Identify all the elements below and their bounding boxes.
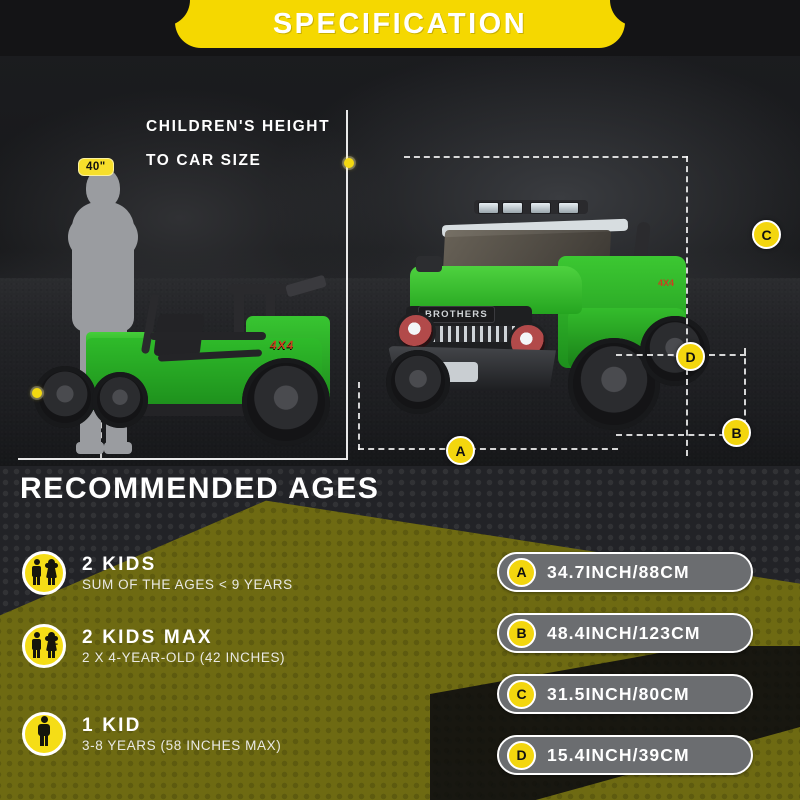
- age-row-one-kid: 1 KID 3-8 YEARS (58 INCHES MAX): [22, 712, 281, 756]
- dimension-line-a-left: [358, 382, 360, 450]
- vehicle-front-view: BROTHERS 4X4: [382, 200, 714, 460]
- two-kids-max-icon: +: [22, 624, 66, 668]
- dimension-line-a: [358, 448, 618, 450]
- age-row-title: 2 KIDS MAX: [82, 627, 285, 649]
- header-bar: SPECIFICATION: [0, 0, 800, 56]
- body-decal-4x4: 4X4: [658, 278, 674, 288]
- dimension-letter-b: B: [507, 619, 536, 648]
- dimension-value-a: 34.7INCH/88CM: [547, 562, 690, 583]
- age-row-subtitle: 2 X 4-YEAR-OLD (42 INCHES): [82, 650, 285, 665]
- section-title: RECOMMENDED AGES: [20, 472, 380, 506]
- marker-d: D: [676, 342, 705, 371]
- two-kids-icon: [22, 551, 66, 595]
- dimension-value-c: 31.5INCH/80CM: [547, 684, 690, 705]
- marker-b: B: [722, 418, 751, 447]
- measure-dot-bottom-left: [32, 388, 42, 398]
- one-kid-icon: [22, 712, 66, 756]
- page-title: SPECIFICATION: [273, 8, 527, 41]
- age-row-subtitle: 3-8 YEARS (58 INCHES MAX): [82, 738, 281, 753]
- marker-a: A: [446, 436, 475, 465]
- age-row-title: 1 KID: [82, 715, 281, 737]
- dimension-pill-d: D 15.4INCH/39CM: [497, 735, 753, 775]
- dimension-pill-b: B 48.4INCH/123CM: [497, 613, 753, 653]
- caption-line-1: CHILDREN'S HEIGHT: [146, 118, 330, 136]
- height-badge-40in: 40": [78, 158, 114, 176]
- age-row-two-kids: 2 KIDS SUM OF THE AGES < 9 YEARS: [22, 551, 293, 595]
- dimension-pill-c: C 31.5INCH/80CM: [497, 674, 753, 714]
- product-photo-area: CHILDREN'S HEIGHT TO CAR SIZE 40" 4X4: [0, 48, 800, 466]
- dimension-letter-a: A: [507, 558, 536, 587]
- vehicle-side-view: 4X4: [28, 280, 358, 465]
- dimension-letter-c: C: [507, 680, 536, 709]
- dimension-line-c: [686, 156, 688, 456]
- age-row-title: 2 KIDS: [82, 554, 293, 576]
- age-row-two-kids-max: + 2 KIDS MAX 2 X 4-YEAR-OLD (42 INCHES): [22, 624, 285, 668]
- dimension-line-c-top: [404, 156, 688, 158]
- age-row-subtitle: SUM OF THE AGES < 9 YEARS: [82, 577, 293, 592]
- caption-line-2: TO CAR SIZE: [146, 152, 262, 170]
- header-banner: SPECIFICATION: [175, 0, 625, 48]
- dimension-letter-d: D: [507, 741, 536, 770]
- specification-infographic: SPECIFICATION CHILDREN'S HEIGHT TO CAR S…: [0, 0, 800, 800]
- dimension-value-d: 15.4INCH/39CM: [547, 745, 690, 766]
- dimension-value-b: 48.4INCH/123CM: [547, 623, 701, 644]
- plus-icon: +: [52, 639, 58, 651]
- measure-dot-top-right: [344, 158, 354, 168]
- dimension-pill-a: A 34.7INCH/88CM: [497, 552, 753, 592]
- side-decal-4x4: 4X4: [269, 338, 295, 352]
- marker-c: C: [752, 220, 781, 249]
